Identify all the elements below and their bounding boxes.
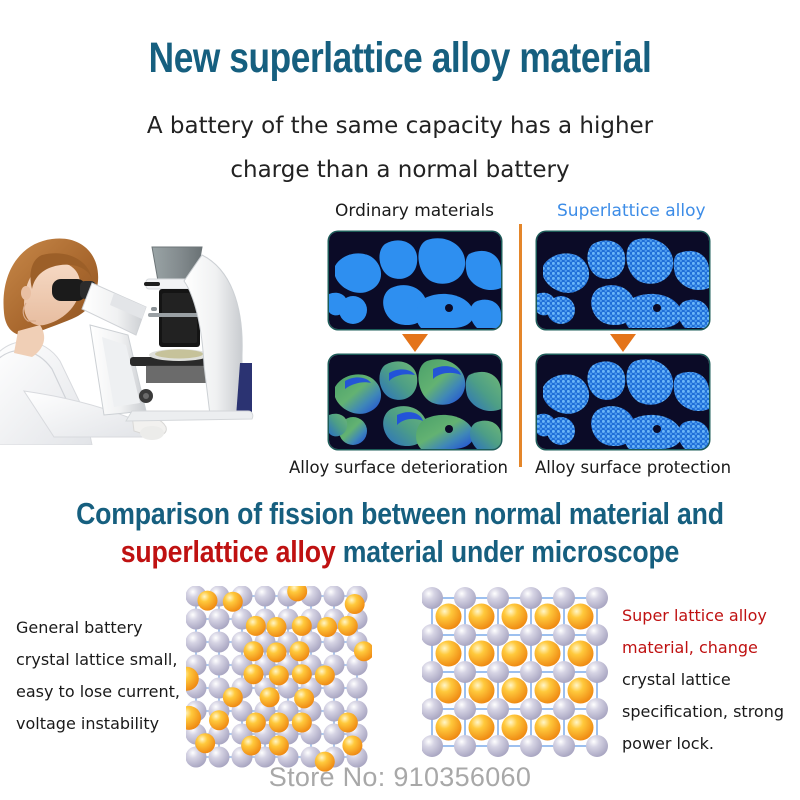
scientist-at-microscope-photo bbox=[0, 185, 296, 445]
label-ordinary-materials: Ordinary materials bbox=[335, 201, 494, 221]
general-battery-description: General battery crystal lattice small, e… bbox=[16, 612, 206, 740]
superlattice-desc-line-3: crystal lattice bbox=[622, 664, 800, 696]
infographic-page: New superlattice alloy material A batter… bbox=[0, 0, 800, 800]
section-heading-red-span: superlattice alloy bbox=[121, 534, 336, 569]
caption-alloy-surface-deterioration: Alloy surface deterioration bbox=[289, 458, 508, 477]
column-divider bbox=[519, 224, 522, 467]
micrograph-superlattice-after bbox=[537, 355, 709, 449]
micrograph-ordinary-before bbox=[329, 232, 501, 329]
micrograph-ordinary-after bbox=[329, 355, 501, 449]
arrow-down-icon bbox=[609, 333, 637, 353]
section-heading-line-2: superlattice alloy material under micros… bbox=[56, 533, 744, 571]
page-subtitle: A battery of the same capacity has a hig… bbox=[0, 104, 800, 192]
section-heading-rest-span: material under microscope bbox=[336, 534, 680, 569]
section-heading-line-1: Comparison of fission between normal mat… bbox=[56, 495, 744, 533]
general-battery-line-2: crystal lattice small, bbox=[16, 644, 206, 676]
superlattice-desc-line-5: power lock. bbox=[622, 728, 800, 760]
superlattice-desc-red-tail: material, change bbox=[622, 638, 758, 657]
disordered-crystal-lattice bbox=[186, 586, 372, 772]
general-battery-line-1: General battery bbox=[16, 612, 206, 644]
page-title: New superlattice alloy material bbox=[72, 34, 728, 83]
arrow-down-icon bbox=[401, 333, 429, 353]
subtitle-line-1: A battery of the same capacity has a hig… bbox=[0, 104, 800, 148]
micrograph-superlattice-before bbox=[537, 232, 709, 329]
superlattice-desc-line-4: specification, strong bbox=[622, 696, 800, 728]
general-battery-line-4: voltage instability bbox=[16, 708, 206, 740]
superlattice-description: Super lattice alloy material, change cry… bbox=[622, 600, 800, 760]
superlattice-desc-line-2: material, change bbox=[622, 632, 800, 664]
section-heading: Comparison of fission between normal mat… bbox=[0, 495, 800, 571]
caption-alloy-surface-protection: Alloy surface protection bbox=[535, 458, 731, 477]
superlattice-desc-line-1: Super lattice alloy bbox=[622, 600, 800, 632]
store-watermark: Store No: 910356060 bbox=[0, 762, 800, 793]
label-superlattice-alloy: Superlattice alloy bbox=[557, 201, 706, 221]
ordered-superlattice bbox=[422, 586, 608, 772]
general-battery-line-3: easy to lose current, bbox=[16, 676, 206, 708]
